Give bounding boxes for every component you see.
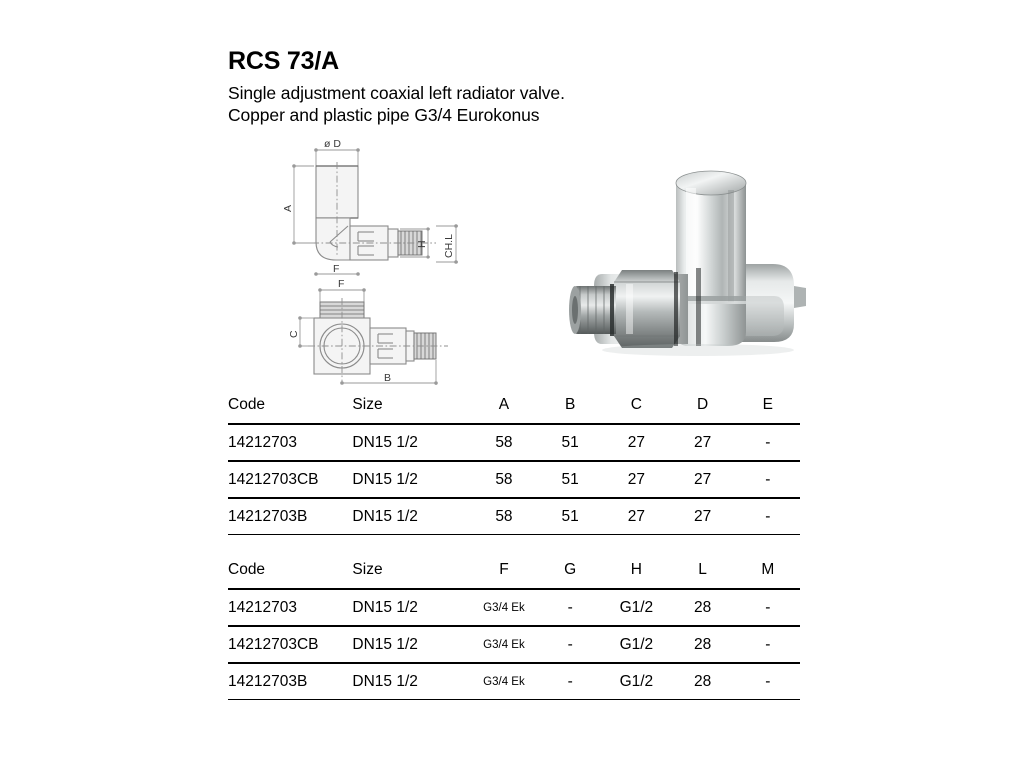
cell-g: - xyxy=(537,589,603,626)
table-2-col-h: H xyxy=(603,561,669,589)
product-photo xyxy=(568,146,858,376)
cell-size: DN15 1/2 xyxy=(352,424,470,461)
cell-l: 28 xyxy=(669,626,735,663)
table-2-col-size: Size xyxy=(352,561,470,589)
cell-e: - xyxy=(736,498,800,535)
cell-code: 14212703 xyxy=(228,589,352,626)
table-row: 14212703B DN15 1/2 G3/4 Ek - G1/2 28 - xyxy=(228,663,800,700)
cell-code: 14212703CB xyxy=(228,461,352,498)
table-1-header: Code Size A B C D E xyxy=(228,396,800,424)
table-2-col-g: G xyxy=(537,561,603,589)
cell-size: DN15 1/2 xyxy=(352,663,470,700)
cell-code: 14212703CB xyxy=(228,626,352,663)
cell-a: 58 xyxy=(471,424,537,461)
cell-e: - xyxy=(736,424,800,461)
table-row: 14212703CB DN15 1/2 G3/4 Ek - G1/2 28 - xyxy=(228,626,800,663)
cell-f: G3/4 Ek xyxy=(471,589,537,626)
cell-d: 27 xyxy=(669,461,735,498)
figure-area: ø D xyxy=(228,138,928,393)
cell-code: 14212703B xyxy=(228,663,352,700)
technical-drawing-top-view: F xyxy=(288,278,488,393)
cell-g: - xyxy=(537,663,603,700)
table-1-col-c: C xyxy=(603,396,669,424)
cell-a: 58 xyxy=(471,498,537,535)
cell-a: 58 xyxy=(471,461,537,498)
dim-label-c: C xyxy=(288,330,300,338)
cell-l: 28 xyxy=(669,589,735,626)
table-row: 14212703 DN15 1/2 G3/4 Ek - G1/2 28 - xyxy=(228,589,800,626)
product-header: RCS 73/A Single adjustment coaxial left … xyxy=(228,46,848,126)
table-1-col-size: Size xyxy=(352,396,470,424)
table-1-col-a: A xyxy=(471,396,537,424)
table-row: 14212703 DN15 1/2 58 51 27 27 - xyxy=(228,424,800,461)
cell-h: G1/2 xyxy=(603,626,669,663)
dim-label-a: A xyxy=(282,205,294,212)
table-2-col-f: F xyxy=(471,561,537,589)
table-1-col-b: B xyxy=(537,396,603,424)
dim-label-f-bottom: F xyxy=(338,278,344,290)
dimensions-table-2: Code Size F G H L M 14212703 DN15 1/2 G3… xyxy=(228,561,800,700)
cell-d: 27 xyxy=(669,424,735,461)
dim-label-b: B xyxy=(384,372,391,384)
dim-label-h: H xyxy=(416,240,428,248)
cell-b: 51 xyxy=(537,498,603,535)
cell-b: 51 xyxy=(537,461,603,498)
technical-drawing-side-view: ø D xyxy=(280,138,530,283)
cell-c: 27 xyxy=(603,498,669,535)
cell-g: - xyxy=(537,626,603,663)
table-2-col-m: M xyxy=(736,561,800,589)
table-2-body: 14212703 DN15 1/2 G3/4 Ek - G1/2 28 - 14… xyxy=(228,589,800,700)
cell-e: - xyxy=(736,461,800,498)
product-subtitle-line-2: Copper and plastic pipe G3/4 Eurokonus xyxy=(228,104,848,126)
table-1-body: 14212703 DN15 1/2 58 51 27 27 - 14212703… xyxy=(228,424,800,535)
cell-size: DN15 1/2 xyxy=(352,498,470,535)
table-row: 14212703CB DN15 1/2 58 51 27 27 - xyxy=(228,461,800,498)
dim-label-diameter-d: ø D xyxy=(324,138,341,150)
table-row: 14212703B DN15 1/2 58 51 27 27 - xyxy=(228,498,800,535)
table-2-header-row: Code Size F G H L M xyxy=(228,561,800,589)
cell-b: 51 xyxy=(537,424,603,461)
table-2-header: Code Size F G H L M xyxy=(228,561,800,589)
cell-m: - xyxy=(736,663,800,700)
table-1-col-e: E xyxy=(736,396,800,424)
cell-m: - xyxy=(736,589,800,626)
cell-c: 27 xyxy=(603,424,669,461)
cell-code: 14212703 xyxy=(228,424,352,461)
page-title: RCS 73/A xyxy=(228,46,848,76)
cell-size: DN15 1/2 xyxy=(352,589,470,626)
dim-label-f-top: F xyxy=(333,263,339,275)
cell-f: G3/4 Ek xyxy=(471,626,537,663)
cell-d: 27 xyxy=(669,498,735,535)
dim-label-chl: CH.L xyxy=(443,234,455,258)
cell-l: 28 xyxy=(669,663,735,700)
product-subtitle-line-1: Single adjustment coaxial left radiator … xyxy=(228,82,848,104)
table-2-col-l: L xyxy=(669,561,735,589)
cell-h: G1/2 xyxy=(603,589,669,626)
cell-code: 14212703B xyxy=(228,498,352,535)
cell-h: G1/2 xyxy=(603,663,669,700)
cell-f: G3/4 Ek xyxy=(471,663,537,700)
table-1-header-row: Code Size A B C D E xyxy=(228,396,800,424)
table-1-col-code: Code xyxy=(228,396,352,424)
cell-size: DN15 1/2 xyxy=(352,626,470,663)
cell-size: DN15 1/2 xyxy=(352,461,470,498)
dimensions-table-1: Code Size A B C D E 14212703 DN15 1/2 58… xyxy=(228,396,800,535)
table-1-col-d: D xyxy=(669,396,735,424)
table-2-col-code: Code xyxy=(228,561,352,589)
cell-c: 27 xyxy=(603,461,669,498)
cell-m: - xyxy=(736,626,800,663)
